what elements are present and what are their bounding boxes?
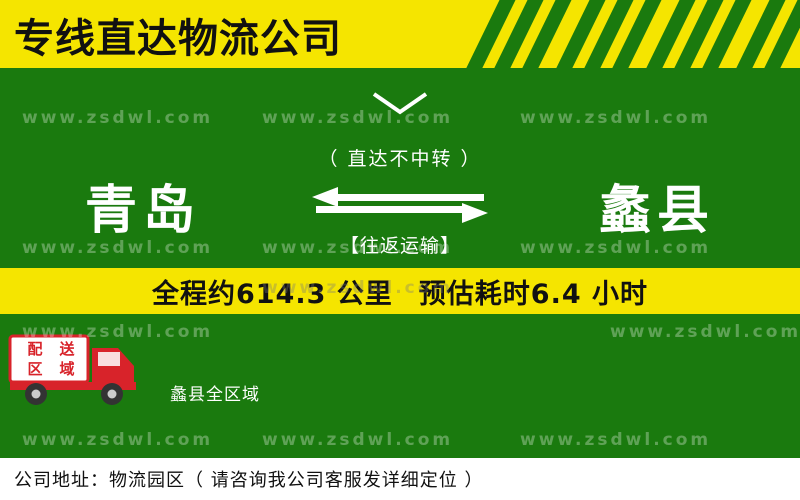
duration-text: 预估耗时6.4 小时 [419,272,648,311]
footer-band: 公司地址：物流园区（ 请咨询我公司客服发详细定位 ） [0,458,800,500]
route-middle: （ 直达不中转 ） 【往返运输】 [278,136,522,258]
chevron-down-icon [370,90,430,116]
origin-city: 青岛 [85,168,201,243]
truck-badge-4: 域 [52,360,82,378]
delivery-area-label: 蠡县全区域 [170,380,260,405]
truck-icon: 配 送 区 域 [8,328,158,408]
poster: 专线直达物流公司 青岛 蠡县 （ 直达不中转 ） [0,0,800,500]
page-title: 专线直达物流公司 [14,6,342,64]
info-band: 全程约614.3 公里 预估耗时6.4 小时 [0,268,800,314]
banner-stripes [420,0,800,68]
delivery-row: 配 送 区 域 蠡县全区域 [0,318,800,436]
destination-city: 蠡县 [599,168,715,243]
truck-badge-3: 区 [20,360,50,378]
roundtrip-note: 【往返运输】 [278,231,522,258]
direct-note: （ 直达不中转 ） [278,144,522,171]
bidirectional-arrow-icon [310,185,490,225]
truck-badge-2: 送 [52,340,82,358]
company-address: 公司地址：物流园区（ 请咨询我公司客服发详细定位 ） [14,466,483,492]
route-area: 青岛 蠡县 （ 直达不中转 ） 【往返运输】 [0,68,800,268]
truck-badge-1: 配 [20,340,50,358]
top-banner: 专线直达物流公司 [0,0,800,68]
distance-text: 全程约614.3 公里 [152,272,393,311]
